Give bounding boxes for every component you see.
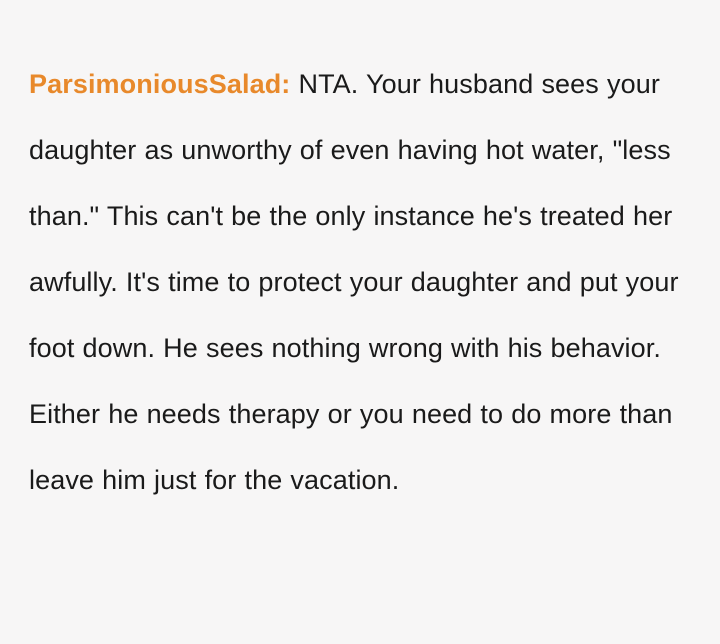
comment-body-text: NTA. Your husband sees your daughter as … (29, 69, 679, 495)
comment-view: ParsimoniousSalad: NTA. Your husband see… (0, 0, 720, 644)
comment-block: ParsimoniousSalad: NTA. Your husband see… (29, 51, 693, 513)
comment-author-name[interactable]: ParsimoniousSalad: (29, 69, 290, 99)
